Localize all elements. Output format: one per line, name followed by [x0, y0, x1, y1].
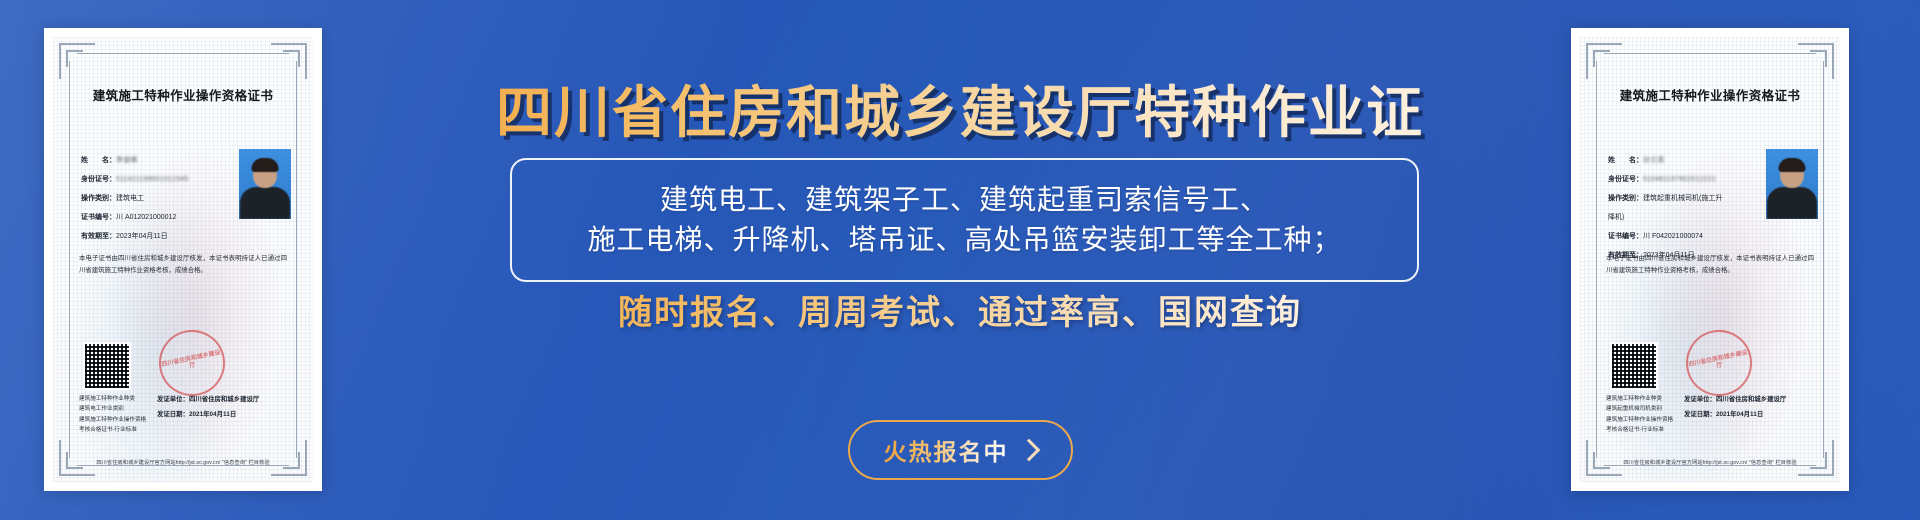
qr-code-icon [1610, 342, 1658, 390]
border-line [69, 61, 70, 458]
certificate-field-row: 身份证号：510481197802012221 [1608, 174, 1778, 184]
field-label: 姓 名： [81, 155, 116, 165]
certificate-paragraph: 本电子证书由四川省住房和城乡建设厅核发，本证书表明持证人已通过四川省建筑施工特种… [1606, 253, 1814, 277]
field-label: 证书编号： [81, 212, 116, 222]
certificate-fields: 姓 名：孙兰英 身份证号：510481197802012221 操作类别：建筑起… [1608, 155, 1778, 269]
certificate-photo [1766, 149, 1818, 219]
border-line [296, 61, 297, 458]
enroll-now-label: 火热报名中 [884, 433, 1009, 467]
note-line: 建筑电工作业类别 [79, 404, 146, 415]
issuer-line: 发证单位：四川省住房和城乡建设厅 [157, 394, 259, 403]
certificate-field-row: 操作类别：建筑电工 [81, 193, 251, 203]
official-seal-icon: 四川省住房和城乡建设厅 [1680, 324, 1758, 402]
certificate-fields: 姓 名：李俊峰 身份证号：511421199001012345 操作类别：建筑电… [81, 155, 251, 250]
certificate-paragraph: 本电子证书由四川省住房和城乡建设厅核发，本证书表明持证人已通过四川省建筑施工特种… [79, 253, 287, 277]
field-label: 姓 名： [1608, 155, 1643, 165]
certificate-field-row: 证书编号：川 F042021000074 [1608, 231, 1778, 241]
corner-fret-icon [271, 43, 307, 79]
border-line [1604, 53, 1816, 54]
field-label: 身份证号： [81, 174, 116, 184]
certificate-field-row: 证书编号：川 A012021000012 [81, 212, 251, 222]
photo-hair [1779, 158, 1806, 172]
note-line: 建筑起重机械司机类别 [1606, 404, 1673, 415]
border-line [1823, 61, 1824, 458]
note-line: 考核合格证书·行业标准 [1606, 425, 1673, 436]
certificate-photo [239, 149, 291, 219]
field-value: 川 F042021000074 [1643, 233, 1703, 240]
note-line: 建筑施工特种作业操作资格 [79, 415, 146, 426]
corner-fret-icon [59, 43, 95, 79]
field-label: 有效期至： [81, 231, 116, 241]
certificate-notes: 建筑施工特种作业种类 建筑电工作业类别 建筑施工特种作业操作资格 考核合格证书·… [79, 394, 146, 437]
certificate-footer: 四川省住房和城乡建设厅官方网站http://jst.sc.gov.cn/ "信息… [1580, 459, 1840, 466]
certificate-issuer-block: 发证单位：四川省住房和城乡建设厅 发证日期：2021年04月11日 [157, 394, 259, 424]
cta-container: 火热报名中 [360, 420, 1560, 480]
field-value: 孙兰英 [1643, 157, 1665, 164]
corner-fret-icon [59, 440, 95, 476]
photo-hair [252, 158, 279, 172]
enroll-now-button[interactable]: 火热报名中 [848, 420, 1073, 480]
scope-line-1: 建筑电工、建筑架子工、建筑起重司索信号工、 [660, 180, 1269, 220]
issuer-line: 发证单位：四川省住房和城乡建设厅 [1684, 394, 1786, 403]
corner-fret-icon [1586, 43, 1622, 79]
corner-fret-icon [1798, 440, 1834, 476]
issue-date-line: 发证日期：2021年04月11日 [1684, 409, 1786, 418]
field-value: 川 A012021000012 [116, 214, 176, 221]
corner-fret-icon [1798, 43, 1834, 79]
scope-line-2: 施工电梯、升降机、塔吊证、高处吊篮安装卸工等全工种； [587, 220, 1341, 260]
certificate-field-row: 操作类别：建筑起重机械司机(施工升 [1608, 193, 1778, 203]
field-value: 降机) [1608, 214, 1624, 221]
certificate-footer: 四川省住房和城乡建设厅官方网站http://jst.sc.gov.cn/ "信息… [53, 459, 313, 466]
field-value: 2023年04月11日 [116, 233, 168, 240]
field-value: 511421199001012345 [116, 176, 189, 183]
chevron-right-icon [1017, 439, 1040, 462]
field-label: 证书编号： [1608, 231, 1643, 241]
banner-center-content: 四川省住房和城乡建设厅特种作业证 建筑电工、建筑架子工、建筑起重司索信号工、 施… [360, 0, 1560, 520]
note-line: 考核合格证书·行业标准 [79, 425, 146, 436]
banner-tagline: 随时报名、周周考试、通过率高、国网查询 [360, 285, 1560, 334]
certificate-field-row: 有效期至：2023年04月11日 [81, 231, 251, 241]
certificate-title: 建筑施工特种作业操作资格证书 [1580, 85, 1840, 104]
border-line [77, 53, 289, 54]
field-value: 510481197802012221 [1643, 176, 1716, 183]
border-line [1596, 61, 1597, 458]
banner-headline: 四川省住房和城乡建设厅特种作业证 [360, 68, 1560, 149]
certificate-card-right: 建筑施工特种作业操作资格证书 姓 名：孙兰英 身份证号：510481197802… [1571, 28, 1849, 491]
note-line: 建筑施工特种作业种类 [79, 394, 146, 405]
corner-fret-icon [271, 440, 307, 476]
qr-code-icon [83, 342, 131, 390]
field-value: 李俊峰 [116, 157, 138, 164]
field-value: 建筑电工 [116, 195, 144, 202]
corner-fret-icon [1586, 440, 1622, 476]
promo-banner: 建筑施工特种作业操作资格证书 姓 名：李俊峰 身份证号：511421199001… [0, 0, 1920, 520]
note-line: 建筑施工特种作业种类 [1606, 394, 1673, 405]
certificate-field-row: 降机) [1608, 212, 1778, 222]
certificate-inner-guilloche: 建筑施工特种作业操作资格证书 姓 名：李俊峰 身份证号：511421199001… [53, 37, 313, 482]
field-value: 建筑起重机械司机(施工升 [1643, 195, 1722, 202]
certificate-field-row: 姓 名：李俊峰 [81, 155, 251, 165]
note-line: 建筑施工特种作业操作资格 [1606, 415, 1673, 426]
field-label: 身份证号： [1608, 174, 1643, 184]
issue-date-line: 发证日期：2021年04月11日 [157, 409, 259, 418]
field-label: 操作类别： [81, 193, 116, 203]
certificate-title: 建筑施工特种作业操作资格证书 [53, 85, 313, 104]
certificate-field-row: 姓 名：孙兰英 [1608, 155, 1778, 165]
certificate-issuer-block: 发证单位：四川省住房和城乡建设厅 发证日期：2021年04月11日 [1684, 394, 1786, 424]
field-label: 操作类别： [1608, 193, 1643, 203]
certificate-card-left: 建筑施工特种作业操作资格证书 姓 名：李俊峰 身份证号：511421199001… [44, 28, 322, 491]
photo-body [240, 187, 290, 219]
certificate-inner-guilloche: 建筑施工特种作业操作资格证书 姓 名：孙兰英 身份证号：510481197802… [1580, 37, 1840, 482]
scope-of-trades-box: 建筑电工、建筑架子工、建筑起重司索信号工、 施工电梯、升降机、塔吊证、高处吊篮安… [510, 158, 1419, 282]
certificate-notes: 建筑施工特种作业种类 建筑起重机械司机类别 建筑施工特种作业操作资格 考核合格证… [1606, 394, 1673, 437]
official-seal-icon: 四川省住房和城乡建设厅 [153, 324, 231, 402]
photo-body [1767, 187, 1817, 219]
certificate-field-row: 身份证号：511421199001012345 [81, 174, 251, 184]
